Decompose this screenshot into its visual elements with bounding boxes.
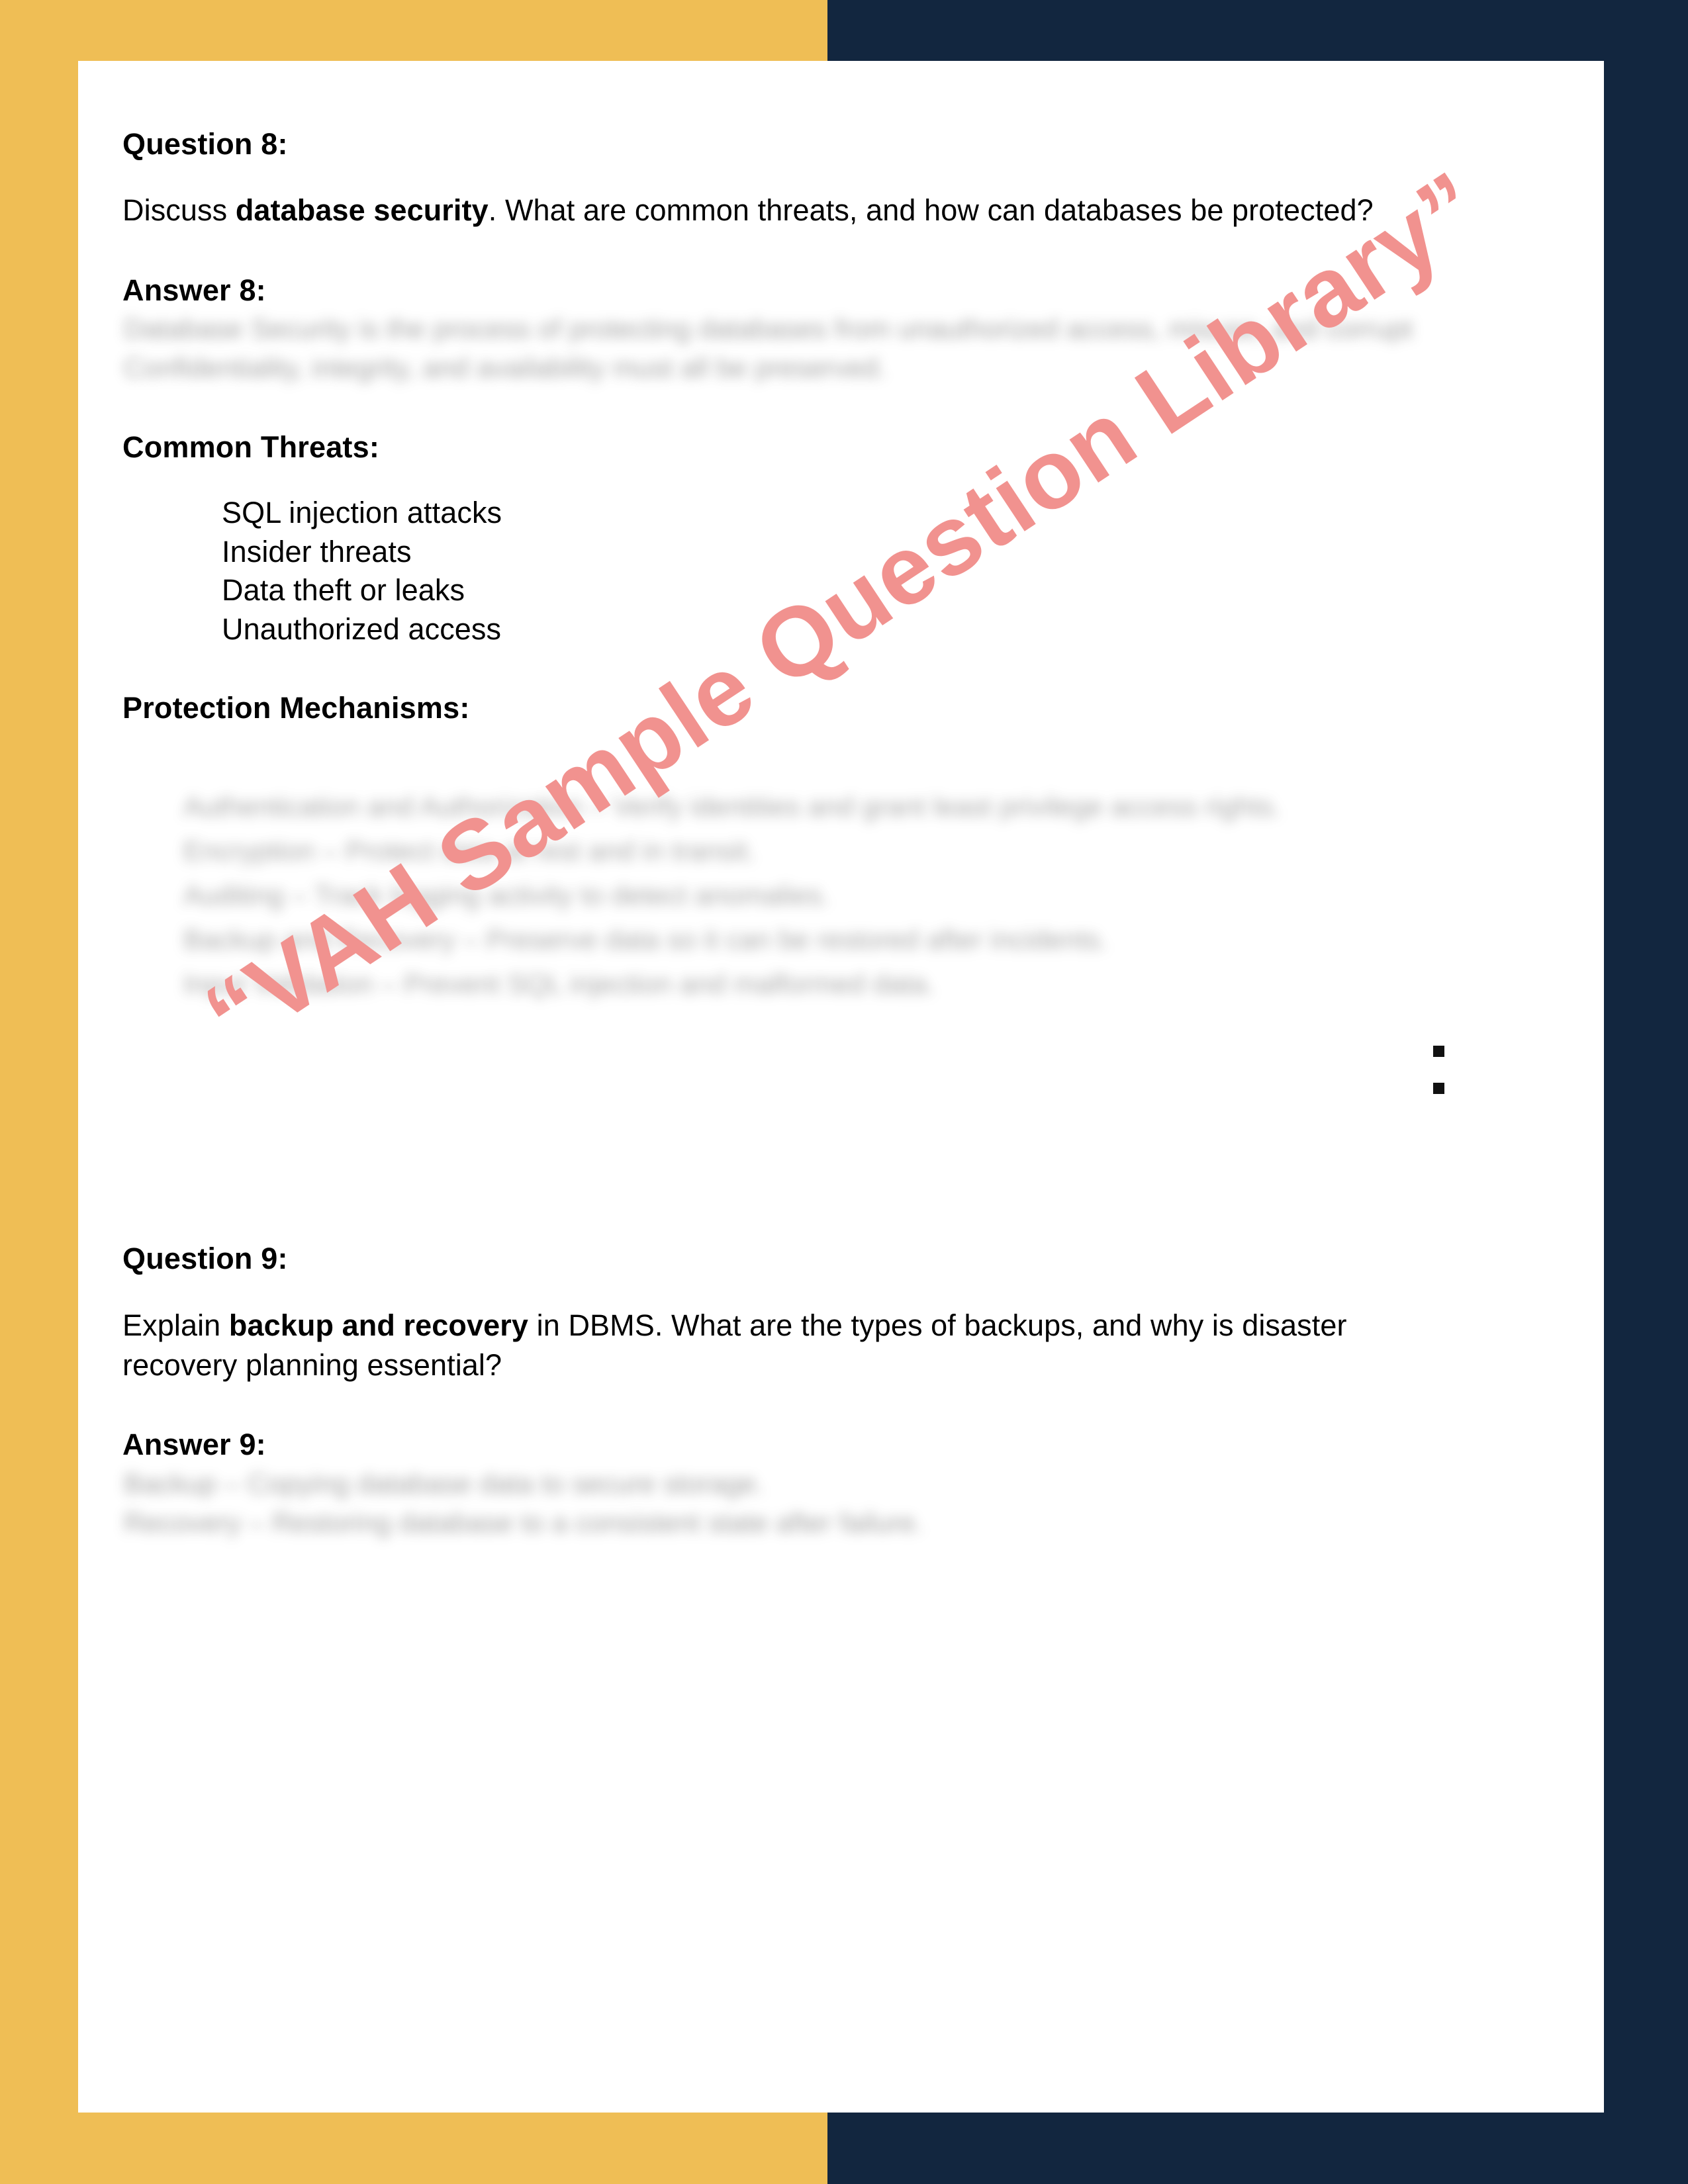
redacted-line: Database Security is the process of prot… [124,309,1413,349]
list-item: SQL injection attacks [222,494,1413,533]
answer-9-redacted-body: Backup – Copying database data to secure… [122,1464,1413,1543]
redacted-line: Authentication and Authorization – Verif… [183,784,1413,829]
list-item: Data theft or leaks [222,571,1413,610]
protection-mechanisms-heading: Protection Mechanisms: [122,690,1413,727]
square-bullet-icon [1433,1046,1444,1057]
list-item: Unauthorized access [222,610,1413,649]
square-bullet-icon [1433,1083,1444,1094]
page-root: Question 8: Discuss database security. W… [0,0,1688,2184]
redacted-line: Confidentiality, integrity, and availabi… [124,348,1413,388]
redacted-line: Input Validation – Prevent SQL injection… [183,962,1413,1006]
redacted-line: Backup and Recovery – Preserve data so i… [183,917,1413,962]
question-8-heading: Question 8: [122,126,1413,163]
question-8-body: Discuss database security. What are comm… [122,191,1413,230]
question-9-text-lead: Explain [122,1308,229,1342]
question-8-text-tail: . What are common threats, and how can d… [489,193,1374,227]
question-9-body: Explain backup and recovery in DBMS. Wha… [122,1306,1413,1386]
common-threats-heading: Common Threats: [122,429,1413,466]
question-9-heading: Question 9: [122,1240,1413,1277]
common-threats-list: SQL injection attacks Insider threats Da… [122,494,1413,649]
redacted-line: Recovery – Restoring database to a consi… [124,1503,1413,1543]
answer-9-heading: Answer 9: [122,1426,1413,1463]
question-9-text-emphasis: backup and recovery [229,1308,528,1342]
redacted-line: Auditing – Track logging activity to det… [183,873,1413,917]
list-item: Insider threats [222,533,1413,572]
protection-mechanisms-redacted-list: Authentication and Authorization – Verif… [122,784,1413,1007]
answer-8-heading: Answer 8: [122,272,1413,309]
document-content: Question 8: Discuss database security. W… [122,126,1413,1543]
question-8-text-emphasis: database security [236,193,489,227]
question-8-text-lead: Discuss [122,193,236,227]
redacted-line: Encryption – Protect data at rest and in… [183,829,1413,873]
answer-8-redacted-body: Database Security is the process of prot… [122,309,1413,388]
square-bullet-markers [1433,1046,1444,1120]
redacted-line: Backup – Copying database data to secure… [124,1464,1413,1504]
